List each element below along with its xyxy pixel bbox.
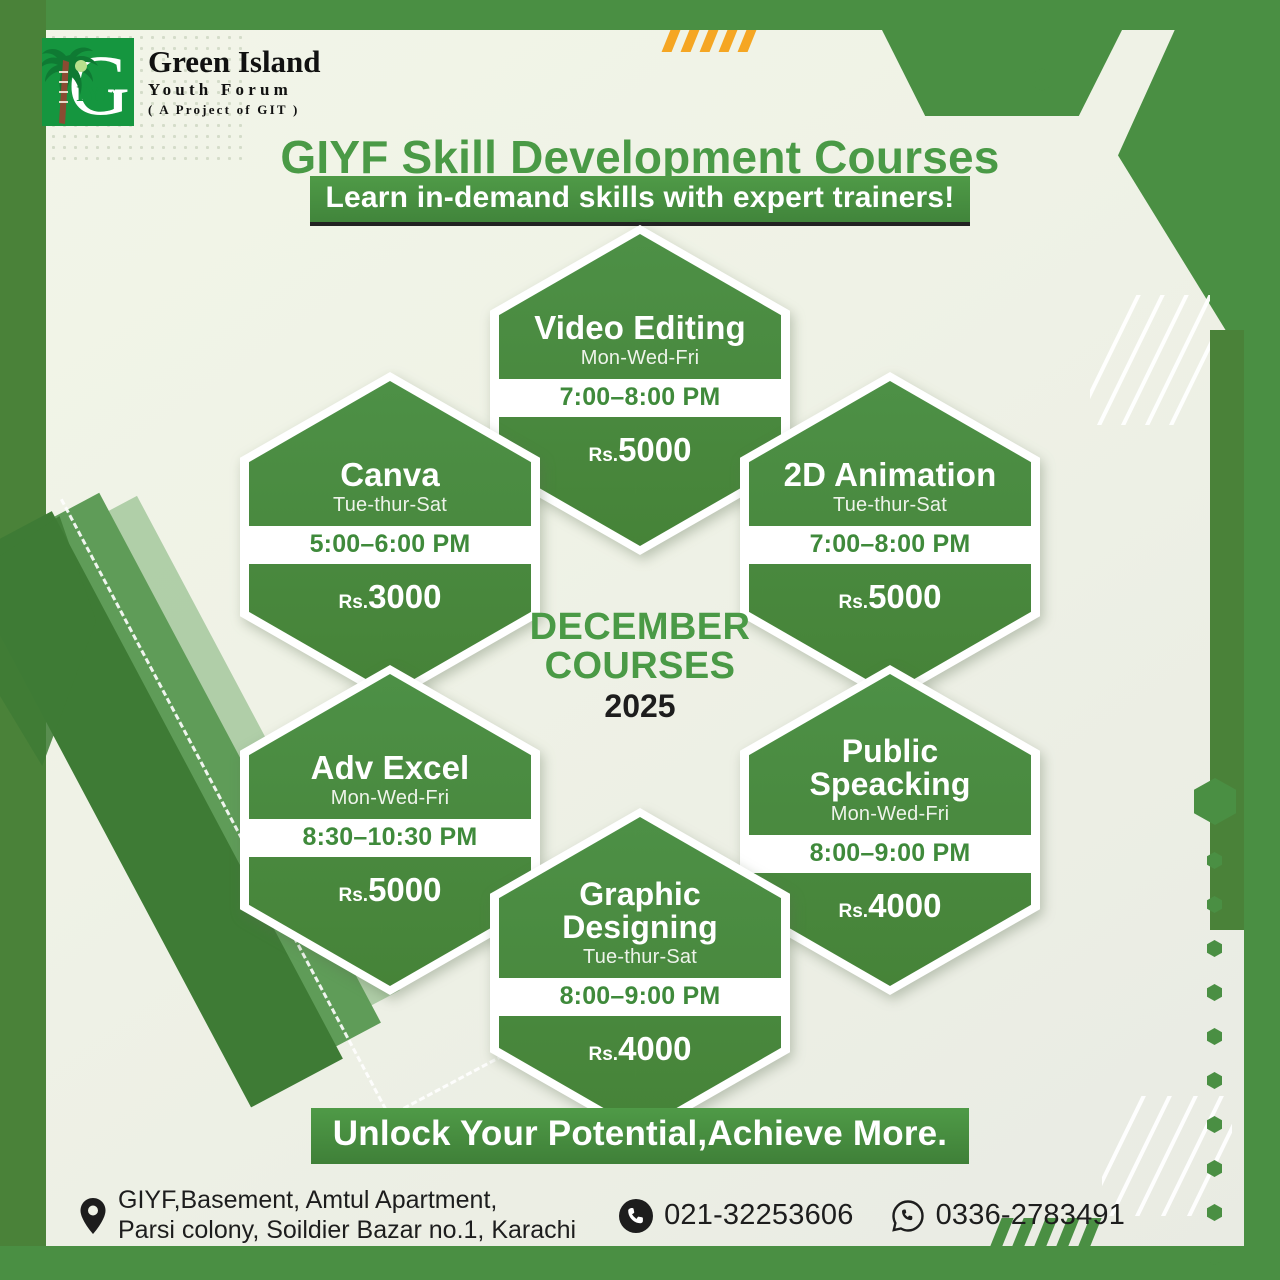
brand-logo: G IYF Green Island Youth Forum ( A Proje… [42,38,321,126]
course-days: Tue-thur-Sat [833,494,947,517]
footer-tagline: Unlock Your Potential,Achieve More. [311,1108,969,1164]
course-amount: 5000 [368,871,441,908]
phone-icon [618,1198,654,1234]
course-currency: Rs. [839,901,869,922]
course-price: Rs.4000 [589,1030,692,1068]
decor-hex-dot [1207,1028,1222,1045]
course-time-band: 5:00–6:00 PM [240,526,540,564]
whatsapp-item[interactable]: 0336-2783491 [890,1198,1125,1234]
course-title: Video Editing [534,311,746,345]
decor-hex-dot [1207,1072,1222,1089]
course-price: Rs.5000 [339,871,442,909]
address-text: GIYF,Basement, Amtul Apartment, Parsi co… [118,1186,576,1245]
course-amount: 4000 [618,1030,691,1067]
palm-tree-icon [42,40,98,126]
brand-name-line2: Youth Forum [148,79,321,101]
course-days: Tue-thur-Sat [333,494,447,517]
course-currency: Rs. [589,445,619,466]
brand-name-block: Green Island Youth Forum ( A Project of … [148,45,321,119]
course-card-graphic-designing[interactable]: Graphic Designing Tue-thur-Sat 8:00–9:00… [490,808,790,1138]
decor-orange-dashes [666,30,786,52]
address-line1: GIYF,Basement, Amtul Apartment, [118,1186,576,1216]
course-title-line2: Designing [562,911,718,944]
decor-hex-dot [1207,896,1222,913]
course-currency: Rs. [589,1044,619,1065]
course-currency: Rs. [339,885,369,906]
course-title-line2: Speacking [810,768,971,801]
course-time: 7:00–8:00 PM [810,530,971,558]
frame-bottom-band [0,1246,1280,1280]
course-time: 8:30–10:30 PM [303,823,478,851]
frame-top-band [0,0,1280,30]
course-title: Public [842,735,939,768]
course-title: Canva [340,458,440,492]
course-title: Adv Excel [311,751,470,785]
whatsapp-number: 0336-2783491 [936,1199,1125,1232]
brand-name-line3: ( A Project of GIT ) [148,101,321,119]
subtitle-wrap: Learn in-demand skills with expert train… [0,176,1280,226]
decor-hex-dot [1207,940,1222,957]
decor-white-hairlines-top [1090,295,1210,425]
course-amount: 5000 [868,578,941,615]
course-time-band: 8:00–9:00 PM [490,978,790,1016]
phone-number: 021-32253606 [664,1199,853,1232]
course-days: Mon-Wed-Fri [831,803,950,826]
course-title: 2D Animation [784,458,997,492]
decor-hex-dot [1207,984,1222,1001]
month-line2: COURSES [440,647,840,686]
hex-content: Graphic Designing Tue-thur-Sat 8:00–9:00… [490,808,790,1138]
palm-tree-g-logo-icon: G IYF [42,38,134,126]
decor-hex-dot [1207,1248,1222,1265]
course-amount: 3000 [368,578,441,615]
page-subtitle: Learn in-demand skills with expert train… [310,176,971,226]
decor-hex-dot [1207,852,1222,869]
course-currency: Rs. [339,592,369,613]
course-time-band: 7:00–8:00 PM [740,526,1040,564]
course-days: Mon-Wed-Fri [581,347,700,370]
address-item: GIYF,Basement, Amtul Apartment, Parsi co… [78,1186,576,1245]
poster-canvas: G IYF Green Island Youth Forum ( A Proje… [0,0,1280,1280]
course-price: Rs.4000 [839,887,942,925]
course-time: 8:00–9:00 PM [810,839,971,867]
month-year: 2025 [440,688,840,725]
whatsapp-icon [890,1198,926,1234]
brand-name-line1: Green Island [148,45,321,78]
month-line1: DECEMBER [440,608,840,647]
course-title: Graphic [579,878,701,911]
course-price: Rs.5000 [589,431,692,469]
course-price: Rs.3000 [339,578,442,616]
decor-right-band [1210,330,1244,930]
month-block: DECEMBER COURSES 2025 [440,608,840,725]
course-currency: Rs. [839,592,869,613]
course-days: Mon-Wed-Fri [331,787,450,810]
address-line2: Parsi colony, Soildier Bazar no.1, Karac… [118,1216,576,1246]
course-time: 8:00–9:00 PM [560,982,721,1010]
location-pin-icon [78,1197,108,1235]
phone-item[interactable]: 021-32253606 [618,1198,853,1234]
course-time: 5:00–6:00 PM [310,530,471,558]
course-time: 7:00–8:00 PM [560,383,721,411]
tagline-wrap: Unlock Your Potential,Achieve More. [0,1108,1280,1164]
course-amount: 5000 [618,431,691,468]
course-price: Rs.5000 [839,578,942,616]
course-amount: 4000 [868,887,941,924]
contact-row: GIYF,Basement, Amtul Apartment, Parsi co… [78,1186,1218,1245]
course-days: Tue-thur-Sat [583,946,697,969]
